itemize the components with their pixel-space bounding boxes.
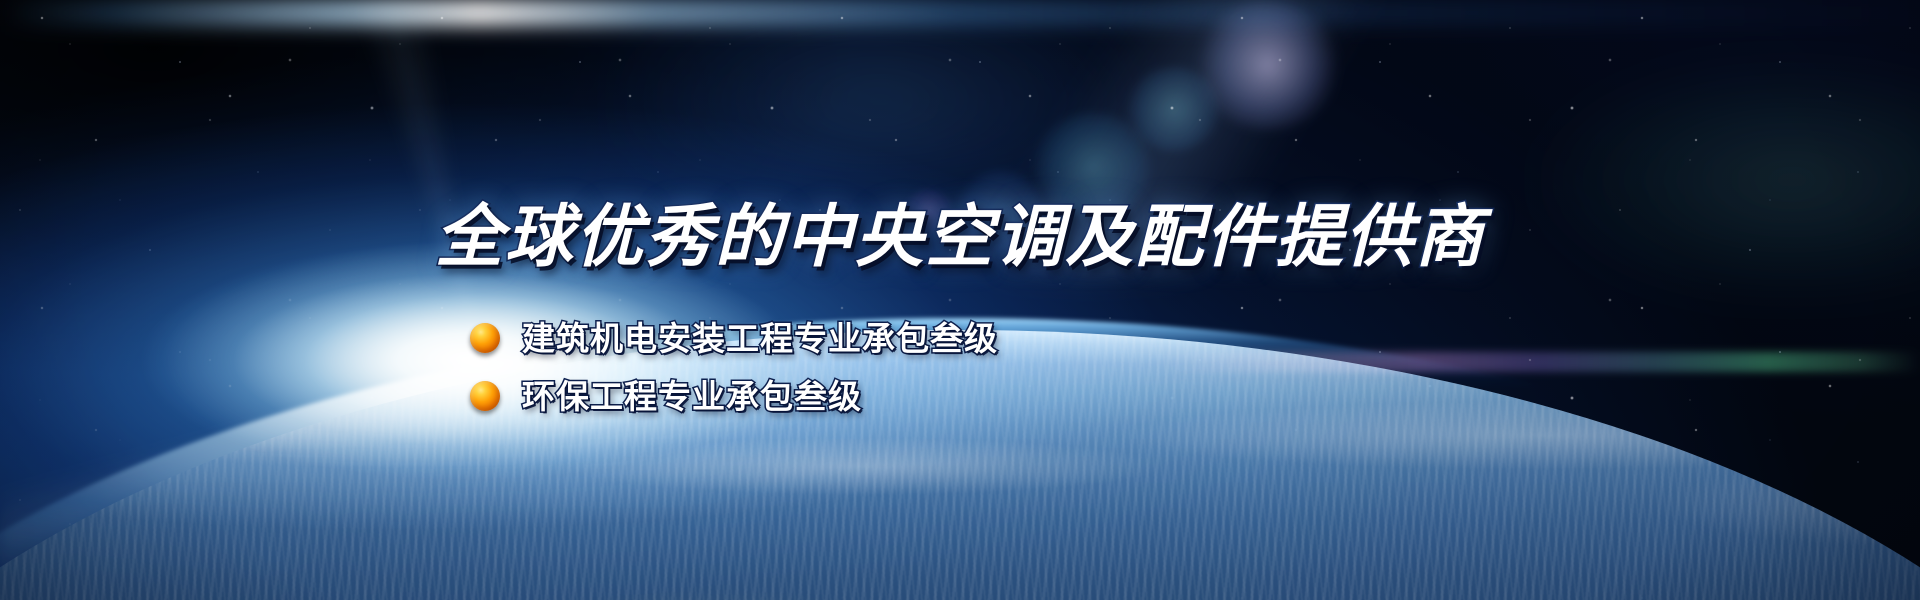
banner-content: 全球优秀的中央空调及配件提供商 建筑机电安装工程专业承包叁级 环保工程专业承包叁… <box>0 0 1920 600</box>
orange-sphere-bullet-icon <box>470 381 500 411</box>
bullet-item-1: 建筑机电安装工程专业承包叁级 <box>470 312 998 364</box>
bullet-item-2: 环保工程专业承包叁级 <box>470 370 998 422</box>
banner-bullet-list: 建筑机电安装工程专业承包叁级 环保工程专业承包叁级 <box>470 312 998 428</box>
bullet-item-2-label: 环保工程专业承包叁级 <box>522 380 862 413</box>
bullet-item-1-label: 建筑机电安装工程专业承包叁级 <box>522 322 998 355</box>
banner-headline: 全球优秀的中央空调及配件提供商 <box>0 203 1920 271</box>
hero-banner: 全球优秀的中央空调及配件提供商 建筑机电安装工程专业承包叁级 环保工程专业承包叁… <box>0 0 1920 600</box>
orange-sphere-bullet-icon <box>470 323 500 353</box>
